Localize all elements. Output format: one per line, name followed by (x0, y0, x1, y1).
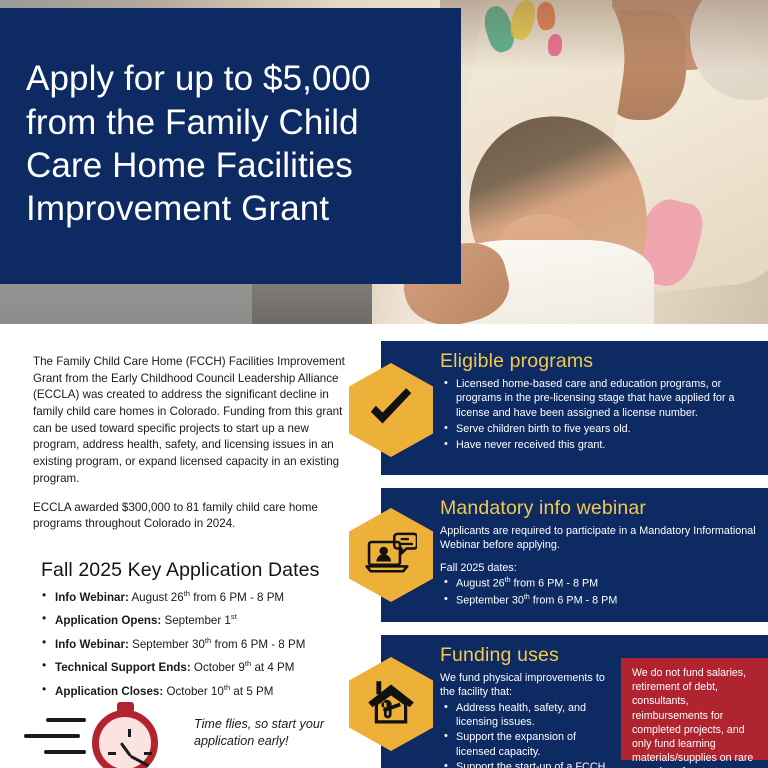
funding-bullet-list: Address health, safety, and licensing is… (440, 701, 612, 768)
panel-funding-body: Funding uses We fund physical improvemen… (440, 645, 612, 768)
webinar-date-item: August 26th from 6 PM - 8 PM (456, 576, 760, 591)
panel-eligible-body: Eligible programs Licensed home-based ca… (440, 351, 760, 454)
panel-title-funding: Funding uses (440, 645, 612, 667)
stopwatch-icon (90, 702, 160, 768)
key-date-item: Application Opens: September 1st (55, 612, 355, 628)
key-date-item: Technical Support Ends: October 9th at 4… (55, 659, 355, 675)
funding-bullet: Address health, safety, and licensing is… (456, 701, 612, 730)
webinar-intro-text: Applicants are required to participate i… (440, 524, 760, 553)
intro-paragraph-1: The Family Child Care Home (FCCH) Facili… (33, 354, 355, 488)
key-date-item: Info Webinar: August 26th from 6 PM - 8 … (55, 589, 355, 605)
webinar-laptop-icon (349, 508, 433, 602)
exclusions-text: We do not fund salaries, retirement of d… (632, 666, 759, 768)
hero-navy-block: Apply for up to $5,000 from the Family C… (0, 8, 461, 284)
intro-paragraph-2: ECCLA awarded $300,000 to 81 family chil… (33, 500, 355, 533)
panel-eligible-programs: Eligible programs Licensed home-based ca… (381, 341, 768, 475)
speed-lines-icon (24, 714, 92, 758)
webinar-dates-list: August 26th from 6 PM - 8 PMSeptember 30… (440, 576, 760, 608)
photo-top-shadow (440, 0, 768, 70)
checkmark-icon (349, 363, 433, 457)
funding-bullet: Support the expansion of licensed capaci… (456, 730, 612, 759)
time-flies-row: Time flies, so start your application ea… (24, 700, 364, 768)
time-flies-text: Time flies, so start your application ea… (194, 716, 364, 750)
panel-webinar-body: Mandatory info webinar Applicants are re… (440, 498, 760, 609)
panel-title-eligible: Eligible programs (440, 351, 760, 373)
eligible-bullet: Serve children birth to five years old. (456, 422, 760, 436)
flyer-page: Apply for up to $5,000 from the Family C… (0, 0, 768, 768)
panel-title-webinar: Mandatory info webinar (440, 498, 760, 520)
key-dates-list: Info Webinar: August 26th from 6 PM - 8 … (33, 589, 355, 699)
panel-mandatory-webinar: Mandatory info webinar Applicants are re… (381, 488, 768, 622)
eligible-bullet-list: Licensed home-based care and education p… (440, 377, 760, 452)
webinar-dates-subheading: Fall 2025 dates: (440, 561, 760, 575)
funding-bullet: Support the start-up of a FCCH. (456, 760, 612, 768)
funding-intro-text: We fund physical improvements to the fac… (440, 671, 612, 700)
eligible-bullet: Have never received this grant. (456, 438, 760, 452)
webinar-date-item: September 30th from 6 PM - 8 PM (456, 593, 760, 608)
key-dates-heading: Fall 2025 Key Application Dates (41, 559, 355, 582)
eligible-bullet: Licensed home-based care and education p… (456, 377, 760, 420)
exclusions-callout-box: We do not fund salaries, retirement of d… (621, 658, 768, 760)
page-title: Apply for up to $5,000 from the Family C… (0, 57, 461, 231)
key-date-item: Application Closes: October 10th at 5 PM (55, 683, 355, 699)
hero-section: Apply for up to $5,000 from the Family C… (0, 0, 768, 324)
left-column: The Family Child Care Home (FCCH) Facili… (33, 354, 355, 706)
key-date-item: Info Webinar: September 30th from 6 PM -… (55, 636, 355, 652)
